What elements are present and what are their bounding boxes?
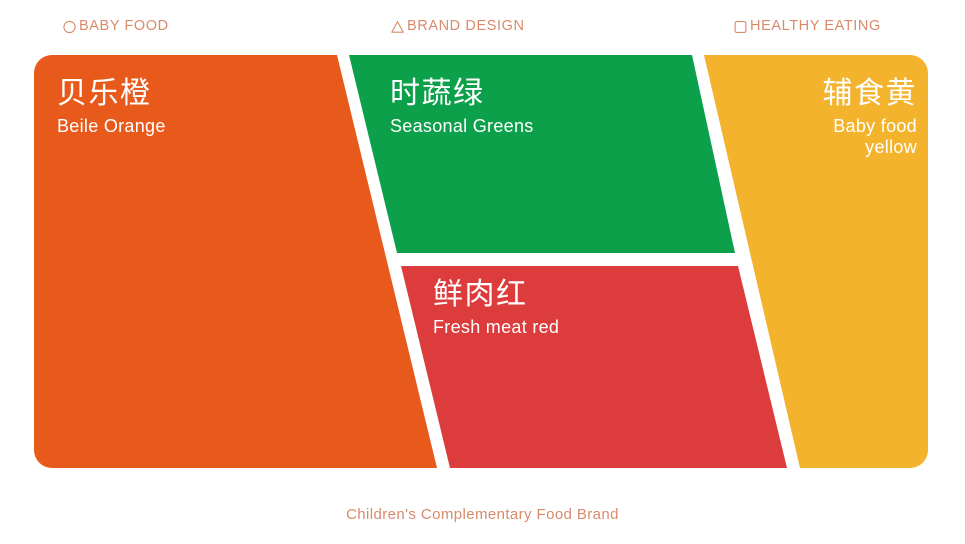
slide-canvas: BABY FOOD BRAND DESIGN HEALTHY EATING (0, 0, 965, 544)
block-green[interactable] (349, 55, 735, 253)
footer-caption: Children's Complementary Food Brand (0, 506, 965, 523)
block-red[interactable] (401, 266, 787, 468)
color-block-diagram: 贝乐橙 Beile Orange 时蔬绿 Seasonal Greens 辅食黄… (0, 0, 965, 490)
color-blocks-svg (0, 0, 965, 490)
